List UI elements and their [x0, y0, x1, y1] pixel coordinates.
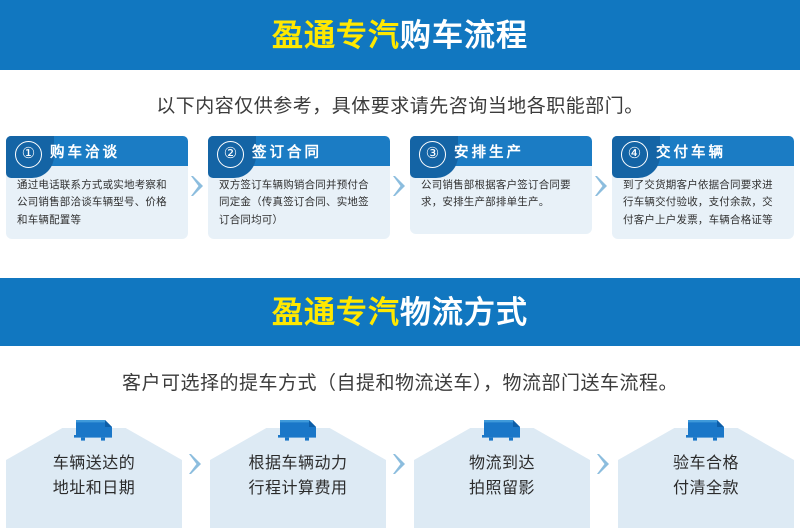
logistics-step-line-1: 车辆送达的: [53, 452, 136, 477]
step-number-badge: ①: [15, 141, 42, 168]
logistics-step-line-1: 根据车辆动力: [248, 452, 347, 477]
purchase-subtitle: 以下内容仅供参考，具体要求请先咨询当地各职能部门。: [0, 70, 800, 118]
brand-name-text: 盈通专汽: [272, 295, 400, 330]
step-title: 安排生产: [454, 141, 524, 162]
logistics-step-line-2: 地址和日期: [53, 477, 136, 502]
logistics-step-shape: 验车合格 付清全款: [618, 428, 794, 528]
logistics-step-text: 车辆送达的 地址和日期: [53, 452, 136, 504]
chevron-right-icon: [393, 453, 407, 475]
purchase-banner-subject: 购车流程: [400, 18, 528, 53]
logistics-step-card[interactable]: 根据车辆动力 行程计算费用: [210, 416, 386, 528]
logistics-subtitle: 客户可选择的提车方式（自提和物流送车），物流部门送车流程。: [0, 346, 800, 395]
step-arrow-gap: [188, 136, 208, 236]
purchase-step-header: ① 购车洽谈: [6, 136, 188, 166]
logistics-step-card[interactable]: 物流到达 拍照留影: [414, 416, 590, 528]
chevron-right-icon: [189, 453, 203, 475]
purchase-step-card[interactable]: ④ 交付车辆 到了交货期客户依据合同要求进行车辆交付验收，支付余款，交付客户上户…: [612, 136, 794, 239]
logistics-steps-row: 车辆送达的 地址和日期 根据车辆动力 行程计算费用: [0, 402, 800, 528]
chevron-right-icon: [393, 175, 407, 197]
truck-icon: [276, 416, 320, 442]
logistics-step-line-2: 行程计算费用: [248, 477, 347, 502]
purchase-steps-row: ① 购车洽谈 通过电话联系方式或实地考察和公司销售部洽谈车辆型号、价格和车辆配置…: [0, 136, 800, 246]
logistics-step-text: 物流到达 拍照留影: [469, 452, 535, 504]
logistics-step-card[interactable]: 车辆送达的 地址和日期: [6, 416, 182, 528]
logistics-step-line-1: 验车合格: [673, 452, 739, 477]
step-title: 购车洽谈: [50, 141, 120, 162]
purchase-banner-title: 盈通专汽购车流程: [272, 20, 528, 51]
chevron-right-icon: [597, 453, 611, 475]
logistics-step-shape: 车辆送达的 地址和日期: [6, 428, 182, 528]
purchase-step-card[interactable]: ① 购车洽谈 通过电话联系方式或实地考察和公司销售部洽谈车辆型号、价格和车辆配置…: [6, 136, 188, 239]
purchase-step-header: ④ 交付车辆: [612, 136, 794, 166]
logistics-banner-title: 盈通专汽物流方式: [272, 297, 528, 328]
logistics-step-text: 根据车辆动力 行程计算费用: [248, 452, 347, 504]
logistics-arrow-gap: [182, 416, 210, 528]
logistics-banner-subject: 物流方式: [400, 295, 528, 330]
logistics-step-shape: 根据车辆动力 行程计算费用: [210, 428, 386, 528]
step-arrow-gap: [390, 136, 410, 236]
logistics-arrow-gap: [590, 416, 618, 528]
logistics-step-shape: 物流到达 拍照留影: [414, 428, 590, 528]
step-title: 交付车辆: [656, 141, 726, 162]
truck-icon: [684, 416, 728, 442]
step-title: 签订合同: [252, 141, 322, 162]
brand-name-text: 盈通专汽: [272, 18, 400, 53]
logistics-step-card[interactable]: 验车合格 付清全款: [618, 416, 794, 528]
logistics-step-text: 验车合格 付清全款: [673, 452, 739, 504]
truck-icon: [72, 416, 116, 442]
step-number-badge: ③: [419, 141, 446, 168]
chevron-right-icon: [191, 175, 205, 197]
step-number-badge: ④: [621, 141, 648, 168]
truck-icon: [480, 416, 524, 442]
logistics-arrow-gap: [386, 416, 414, 528]
purchase-step-header: ② 签订合同: [208, 136, 390, 166]
chevron-right-icon: [595, 175, 609, 197]
step-arrow-gap: [592, 136, 612, 236]
logistics-banner: 盈通专汽物流方式: [0, 278, 800, 346]
purchase-banner: 盈通专汽购车流程: [0, 0, 800, 70]
logistics-step-line-2: 拍照留影: [469, 477, 535, 502]
purchase-step-header: ③ 安排生产: [410, 136, 592, 166]
purchase-step-card[interactable]: ② 签订合同 双方签订车辆购销合同并预付合同定金（传真签订合同、实地签订合同均可…: [208, 136, 390, 239]
purchase-step-card[interactable]: ③ 安排生产 公司销售部根据客户签订合同要求，安排生产部排单生产。: [410, 136, 592, 234]
logistics-step-line-2: 付清全款: [673, 477, 739, 502]
section-divider: [0, 246, 800, 278]
logistics-step-line-1: 物流到达: [469, 452, 535, 477]
step-number-badge: ②: [217, 141, 244, 168]
